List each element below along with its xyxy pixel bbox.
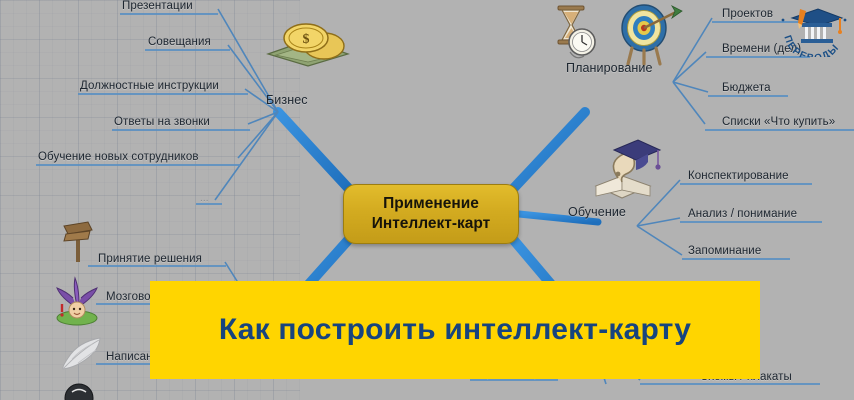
branch-label-planning[interactable]: Планирование (566, 62, 653, 75)
subitem-personal-0[interactable]: Принятие решения (98, 253, 202, 266)
main-branch-planning (512, 112, 585, 190)
central-topic-node[interactable]: Применение Интеллект-карт (343, 184, 519, 244)
central-topic-line2: Интеллект-карт (372, 214, 491, 234)
money-coins-icon: $ (262, 18, 358, 70)
jester-brainstorm-icon (52, 276, 102, 326)
branch-label-learning[interactable]: Обучение (568, 206, 626, 219)
banner-title-text: Как построить интеллект-карту (219, 313, 691, 347)
subitem-business-4[interactable]: Обучение новых сотрудников (38, 151, 199, 164)
subitem-learning-2[interactable]: Запоминание (688, 245, 761, 258)
central-topic-line1: Применение (383, 194, 479, 214)
subitem-planning-0[interactable]: Проектов (722, 8, 773, 21)
subitem-business-2[interactable]: Должностные инструкции (80, 80, 219, 93)
hourglass-clock-icon (546, 2, 602, 64)
subitem-business-5[interactable]: ... (200, 192, 209, 205)
subitem-planning-2[interactable]: Бюджета (722, 82, 771, 95)
subitem-business-0[interactable]: Презентации (122, 0, 193, 13)
svg-text:$: $ (303, 32, 310, 47)
feather-quill-icon (60, 336, 106, 370)
dark-circle-icon (62, 382, 96, 400)
book-graduation-cap-icon (588, 130, 662, 206)
main-branch-business (278, 112, 350, 190)
subitem-planning-3[interactable]: Списки «Что купить» (722, 116, 835, 129)
title-banner: Как построить интеллект-карту (150, 281, 760, 379)
perevody-watermark-logo[interactable]: ПЕРЕВОДЫ (778, 1, 850, 57)
subitem-learning-1[interactable]: Анализ / понимание (688, 208, 797, 221)
subitem-learning-0[interactable]: Конспектирование (688, 170, 789, 183)
signpost-icon (58, 218, 98, 264)
target-dartboard-icon (614, 2, 684, 66)
mindmap-canvas: Применение Интеллект-карт $ (0, 0, 854, 400)
subitem-business-1[interactable]: Совещания (148, 36, 211, 49)
branch-label-business[interactable]: Бизнес (266, 94, 308, 107)
subitem-business-3[interactable]: Ответы на звонки (114, 116, 210, 129)
